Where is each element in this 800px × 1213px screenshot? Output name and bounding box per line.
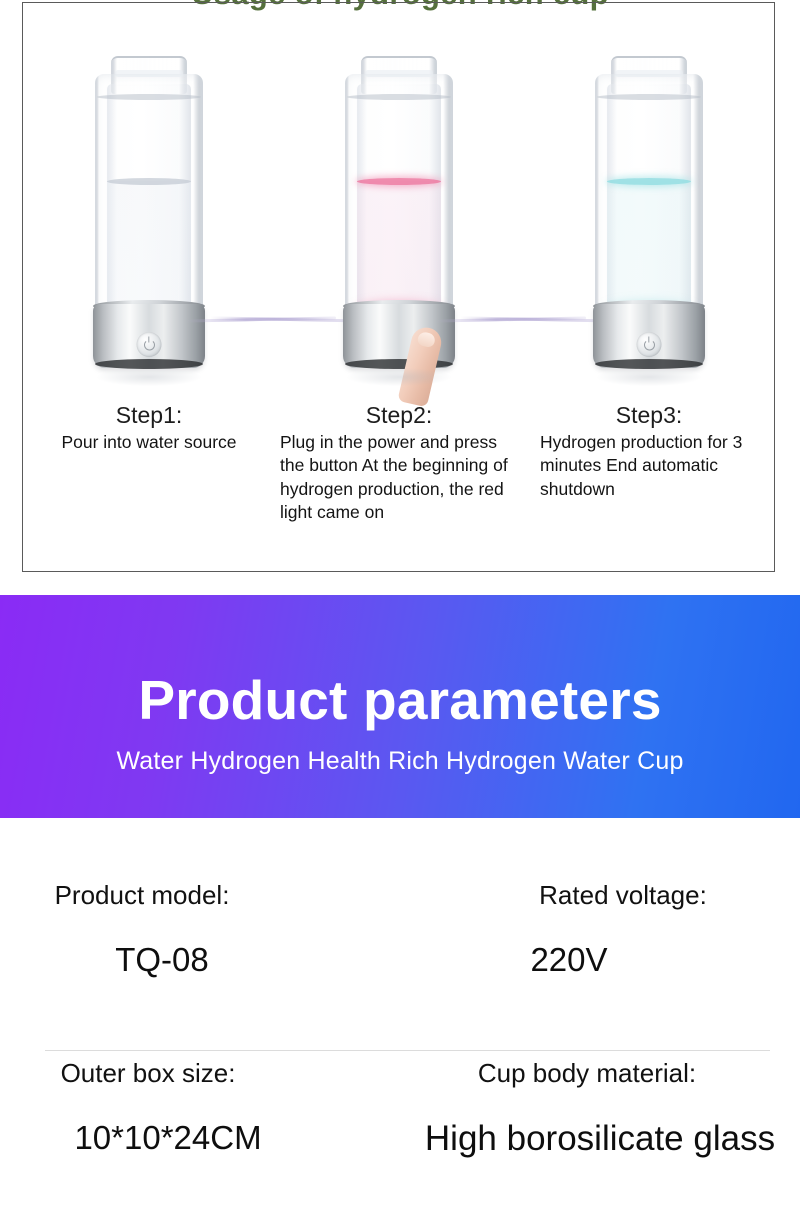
specifications-section: Product model: TQ-08 Rated voltage: 220V… [0, 818, 800, 1200]
product-parameters-banner: Product parameters Water Hydrogen Health… [0, 595, 800, 818]
spec-row: Product model: TQ-08 Rated voltage: 220V [0, 880, 800, 1035]
step-caption-1: Step1: Pour into water source [24, 402, 274, 454]
bottle-water-line [107, 178, 191, 185]
power-symbol-icon [144, 339, 155, 350]
spec-key: Rated voltage: [423, 880, 800, 911]
spec-key: Cup body material: [387, 1058, 787, 1089]
bottle-water-line-red-glow [357, 178, 441, 185]
bottle-water-line-cyan-glow [607, 178, 691, 185]
step-label: Step2: [280, 402, 518, 429]
banner-subtitle: Water Hydrogen Health Rich Hydrogen Wate… [0, 747, 800, 776]
spec-cell-cup-body-material: Cup body material: High borosilicate gla… [400, 1058, 800, 1213]
bottle-image-2 [274, 50, 524, 380]
steps-row: Step1: Pour into water source [24, 4, 774, 564]
power-button-icon[interactable] [137, 332, 162, 357]
step-item-1: Step1: Pour into water source [24, 4, 274, 564]
bottle-water-body [357, 181, 441, 318]
hydrogen-bottle-illustration [587, 50, 711, 370]
bottle-shoulder-line [347, 94, 451, 100]
spec-value: High borosilicate glass [400, 1119, 800, 1159]
bottle-shoulder-line [597, 94, 701, 100]
bottle-reflection [97, 368, 201, 386]
usage-section: Usage of hydrogen rich cup [0, 0, 800, 595]
spec-key: Product model: [0, 880, 342, 911]
spec-value: 10*10*24CM [0, 1119, 368, 1157]
power-button-icon[interactable] [637, 332, 662, 357]
step-description: Hydrogen production for 3 minutes End au… [530, 431, 768, 501]
spec-cell-outer-box-size: Outer box size: 10*10*24CM [0, 1058, 400, 1213]
step-caption-2: Step2: Plug in the power and press the b… [274, 402, 524, 524]
power-symbol-icon [644, 339, 655, 350]
bottle-reflection [597, 368, 701, 386]
step-item-3: Step3: Hydrogen production for 3 minutes… [524, 4, 774, 564]
spec-value: TQ-08 [0, 941, 362, 979]
bottle-water-body [107, 181, 191, 318]
spec-cell-rated-voltage: Rated voltage: 220V [400, 880, 800, 1035]
spec-value: 220V [369, 941, 769, 979]
step-description: Plug in the power and press the button A… [280, 431, 518, 524]
spec-row: Outer box size: 10*10*24CM Cup body mate… [0, 1058, 800, 1213]
bottle-image-3 [524, 50, 774, 380]
step-item-2: Step2: Plug in the power and press the b… [274, 4, 524, 564]
spec-key: Outer box size: [0, 1058, 348, 1089]
step-caption-3: Step3: Hydrogen production for 3 minutes… [524, 402, 774, 501]
bottle-reflection [347, 368, 451, 386]
bottle-shoulder-line [97, 94, 201, 100]
banner-title: Product parameters [0, 668, 800, 732]
step-label: Step1: [30, 402, 268, 429]
spec-divider [45, 1050, 770, 1051]
step-description: Pour into water source [30, 431, 268, 454]
bottle-image-1 [24, 50, 274, 380]
spec-cell-product-model: Product model: TQ-08 [0, 880, 400, 1035]
step-label: Step3: [530, 402, 768, 429]
bottle-water-body [607, 181, 691, 318]
